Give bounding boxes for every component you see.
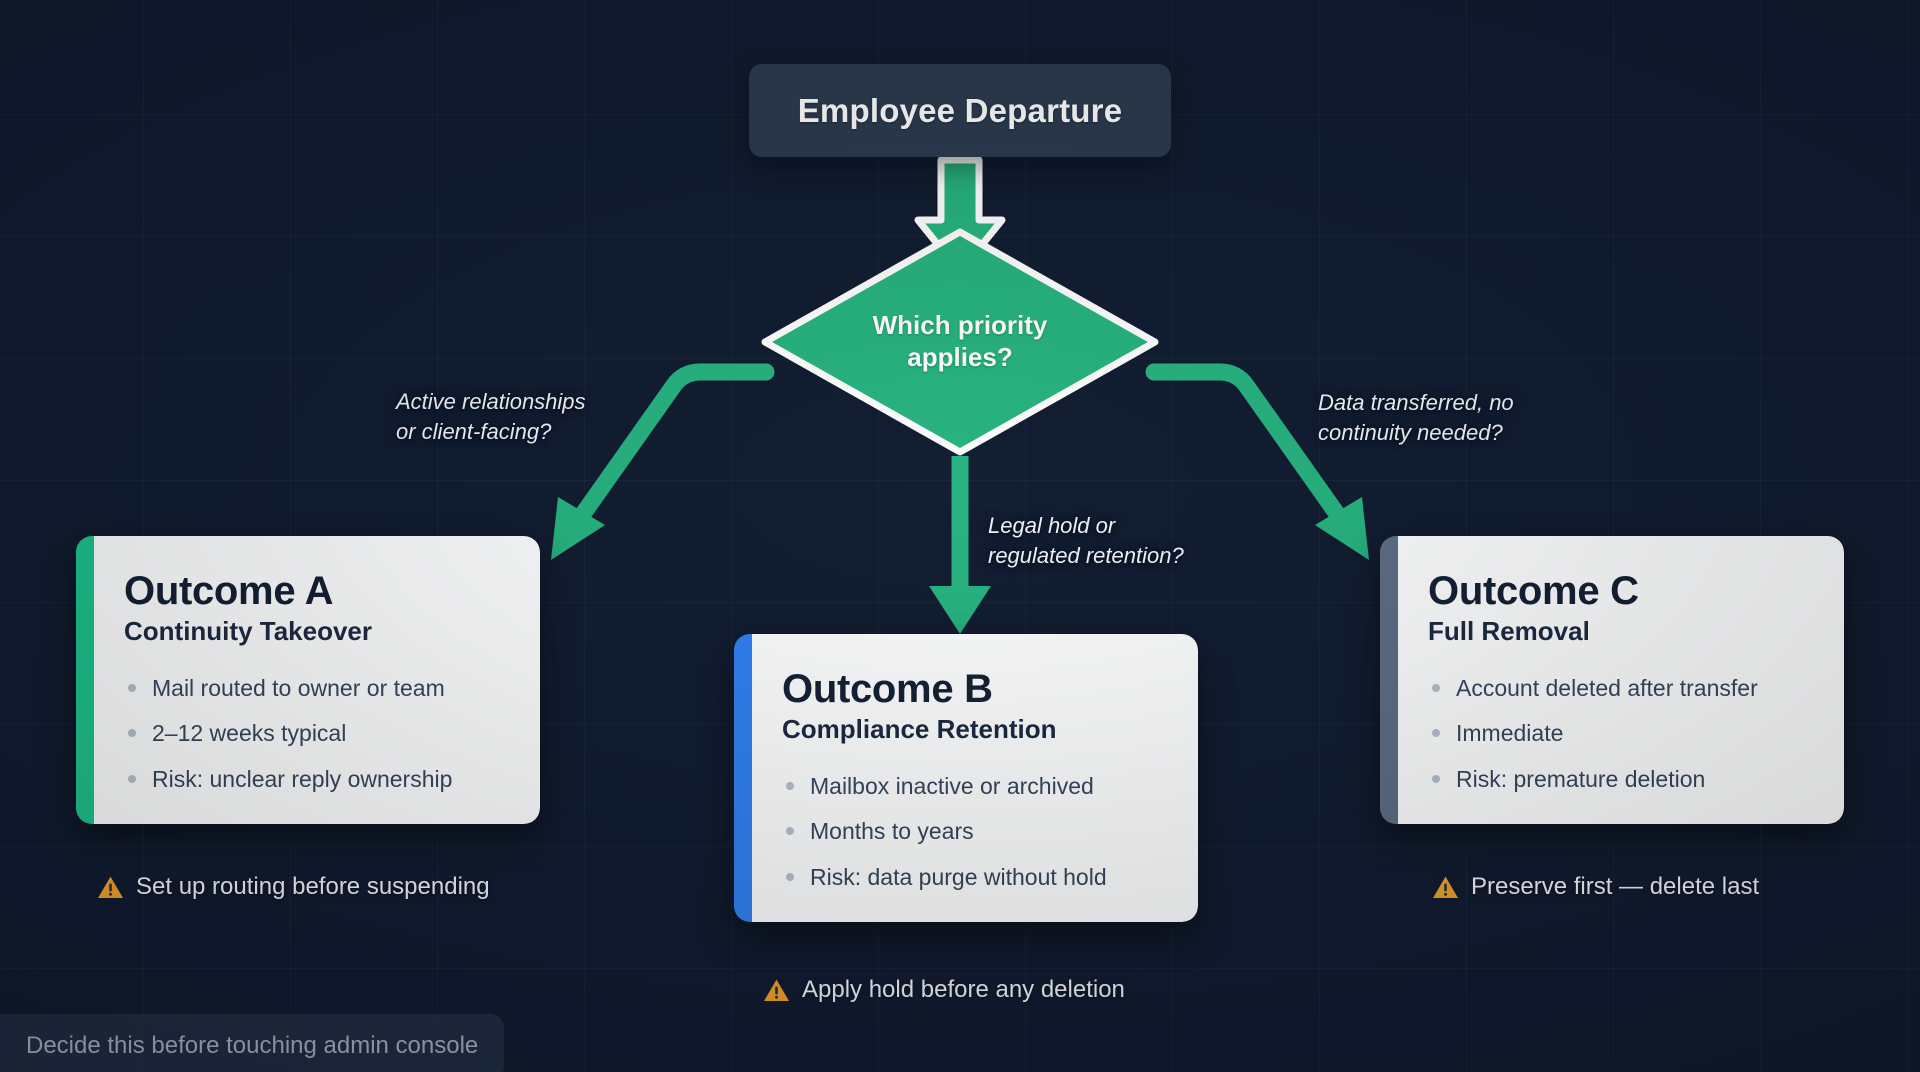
warning-note-c: Preserve first — delete last [1432, 873, 1759, 901]
outcome-b-accent-bar [734, 634, 752, 922]
edge-label-right: Data transferred, no continuity needed? [1318, 388, 1514, 447]
list-item: Immediate [1428, 718, 1814, 748]
bullet-dot-icon [1432, 729, 1440, 737]
list-item: Risk: data purge without hold [782, 862, 1168, 892]
start-node[interactable]: Employee Departure [749, 64, 1171, 157]
outcome-b-title: Outcome B [782, 668, 1168, 710]
edge-label-left: Active relationships or client-facing? [396, 387, 586, 446]
footer-caption: Decide this before touching admin consol… [0, 1014, 504, 1072]
outcome-a-bullet-1: 2–12 weeks typical [152, 720, 346, 746]
warning-note-a: Set up routing before suspending [97, 873, 490, 901]
warning-triangle-icon [763, 978, 790, 1003]
bullet-dot-icon [128, 684, 136, 692]
outcome-b-subtitle: Compliance Retention [782, 715, 1168, 745]
list-item: 2–12 weeks typical [124, 718, 510, 748]
warning-note-b-text: Apply hold before any deletion [802, 976, 1125, 1004]
outcome-c-body: Outcome C Full Removal Account deleted a… [1398, 536, 1844, 824]
start-node-label: Employee Departure [798, 92, 1123, 130]
list-item: Risk: unclear reply ownership [124, 764, 510, 794]
outcome-c-bullet-2: Risk: premature deletion [1456, 766, 1705, 792]
outcome-a-bullet-list: Mail routed to owner or team 2–12 weeks … [124, 673, 510, 794]
outcome-b-bullet-0: Mailbox inactive or archived [810, 773, 1094, 799]
warning-note-c-text: Preserve first — delete last [1471, 873, 1759, 901]
decision-node-line2: applies? [907, 342, 1012, 374]
decision-node-text: Which priority applies? [765, 232, 1155, 452]
outcome-c-accent-bar [1380, 536, 1398, 824]
outcome-c-title: Outcome C [1428, 570, 1814, 612]
outcome-a-title: Outcome A [124, 570, 510, 612]
list-item: Account deleted after transfer [1428, 673, 1814, 703]
outcome-card-b[interactable]: Outcome B Compliance Retention Mailbox i… [734, 634, 1198, 922]
bullet-dot-icon [1432, 775, 1440, 783]
outcome-a-bullet-0: Mail routed to owner or team [152, 675, 445, 701]
outcome-card-c[interactable]: Outcome C Full Removal Account deleted a… [1380, 536, 1844, 824]
outcome-c-bullet-0: Account deleted after transfer [1456, 675, 1758, 701]
connector-decision-to-outcome-b [929, 456, 991, 634]
list-item: Months to years [782, 816, 1168, 846]
edge-label-middle: Legal hold or regulated retention? [988, 511, 1184, 570]
bullet-dot-icon [128, 775, 136, 783]
warning-note-b: Apply hold before any deletion [763, 976, 1125, 1004]
decision-node[interactable]: Which priority applies? [765, 232, 1155, 452]
outcome-c-subtitle: Full Removal [1428, 617, 1814, 647]
warning-triangle-icon [1432, 875, 1459, 900]
outcome-a-body: Outcome A Continuity Takeover Mail route… [94, 536, 540, 824]
outcome-c-bullet-1: Immediate [1456, 720, 1563, 746]
outcome-a-subtitle: Continuity Takeover [124, 617, 510, 647]
bullet-dot-icon [786, 782, 794, 790]
outcome-b-body: Outcome B Compliance Retention Mailbox i… [752, 634, 1198, 922]
warning-note-a-text: Set up routing before suspending [136, 873, 490, 901]
bullet-dot-icon [128, 729, 136, 737]
warning-triangle-icon [97, 875, 124, 900]
outcome-b-bullet-2: Risk: data purge without hold [810, 864, 1107, 890]
bullet-dot-icon [786, 827, 794, 835]
outcome-a-bullet-2: Risk: unclear reply ownership [152, 766, 452, 792]
outcome-card-a[interactable]: Outcome A Continuity Takeover Mail route… [76, 536, 540, 824]
list-item: Risk: premature deletion [1428, 764, 1814, 794]
bullet-dot-icon [786, 873, 794, 881]
outcome-b-bullet-list: Mailbox inactive or archived Months to y… [782, 771, 1168, 892]
outcome-a-accent-bar [76, 536, 94, 824]
decision-node-line1: Which priority [873, 310, 1048, 342]
list-item: Mail routed to owner or team [124, 673, 510, 703]
outcome-b-bullet-1: Months to years [810, 818, 974, 844]
outcome-c-bullet-list: Account deleted after transfer Immediate… [1428, 673, 1814, 794]
bullet-dot-icon [1432, 684, 1440, 692]
list-item: Mailbox inactive or archived [782, 771, 1168, 801]
